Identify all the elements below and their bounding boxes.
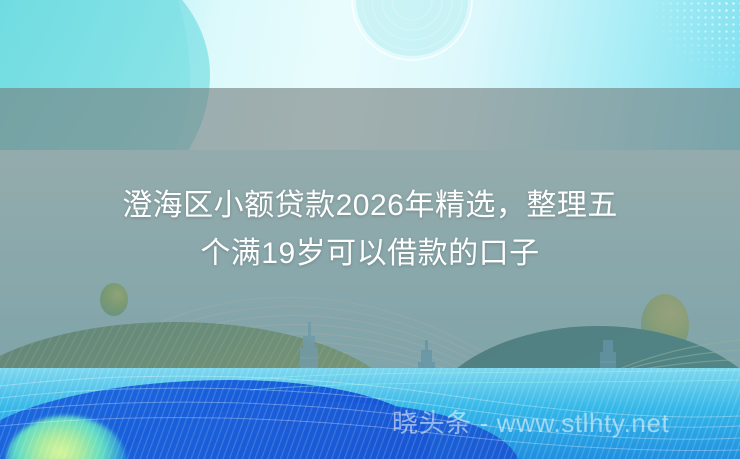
concentric-arcs-decoration bbox=[350, 0, 480, 68]
page-title: 澄海区小额贷款2026年精选，整理五 个满19岁可以借款的口子 bbox=[0, 182, 740, 278]
site-watermark: 晓头条 - www.stlhty.net bbox=[392, 408, 669, 438]
dot-grid-pattern bbox=[625, 0, 740, 95]
article-cover-image: 澄海区小额贷款2026年精选，整理五 个满19岁可以借款的口子 晓头条 - ww… bbox=[0, 0, 740, 459]
